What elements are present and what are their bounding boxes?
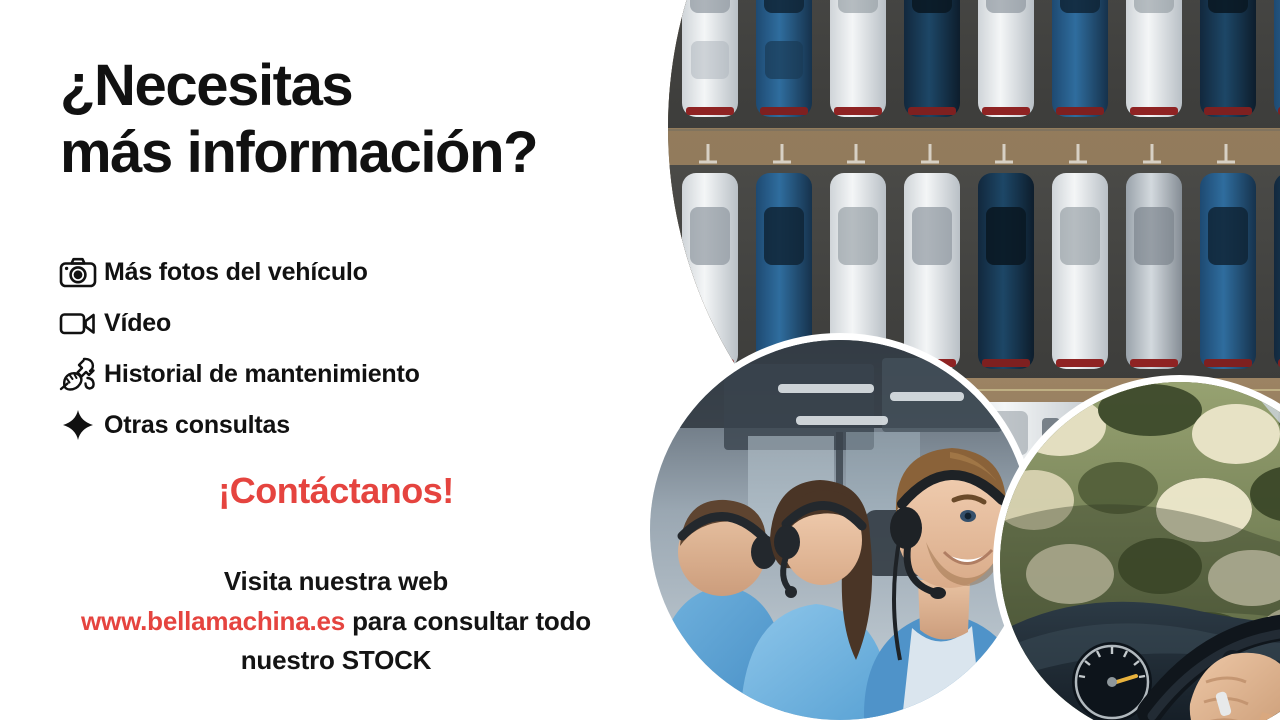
camera-icon	[52, 250, 104, 294]
wrench-hand-icon	[52, 352, 104, 396]
call-center-illustration	[650, 340, 1030, 720]
driving-illustration	[1000, 382, 1280, 720]
feature-item-maintenance: Historial de mantenimiento	[52, 350, 652, 398]
promo-banner: ¿Necesitas más información? Más fotos de…	[0, 0, 1280, 720]
feature-label: Más fotos del vehículo	[104, 258, 368, 287]
video-camera-icon	[52, 301, 104, 345]
feature-item-other: Otras consultas	[52, 401, 652, 449]
website-line-2: www.bellamachina.es para consultar todo	[0, 602, 672, 642]
sparkle-icon	[52, 403, 104, 447]
website-line-1: Visita nuestra web	[0, 562, 672, 602]
page-title: ¿Necesitas más información?	[60, 52, 670, 187]
headline-line-2: más información?	[60, 119, 670, 186]
feature-list: Más fotos del vehículo Vídeo	[52, 248, 652, 452]
driving-photo	[1000, 382, 1280, 720]
contact-cta-text: ¡Contáctanos!	[0, 470, 672, 512]
feature-item-video: Vídeo	[52, 299, 652, 347]
website-url[interactable]: www.bellamachina.es	[81, 606, 345, 636]
website-line-3: nuestro STOCK	[0, 641, 672, 681]
feature-label: Historial de mantenimiento	[104, 360, 420, 389]
feature-label: Vídeo	[104, 309, 171, 338]
website-line-2-rest: para consultar todo	[345, 606, 591, 636]
feature-item-photos: Más fotos del vehículo	[52, 248, 652, 296]
feature-label: Otras consultas	[104, 411, 290, 440]
headline-line-1: ¿Necesitas	[60, 52, 670, 119]
website-block: Visita nuestra web www.bellamachina.es p…	[0, 562, 672, 681]
call-center-photo	[650, 340, 1030, 720]
